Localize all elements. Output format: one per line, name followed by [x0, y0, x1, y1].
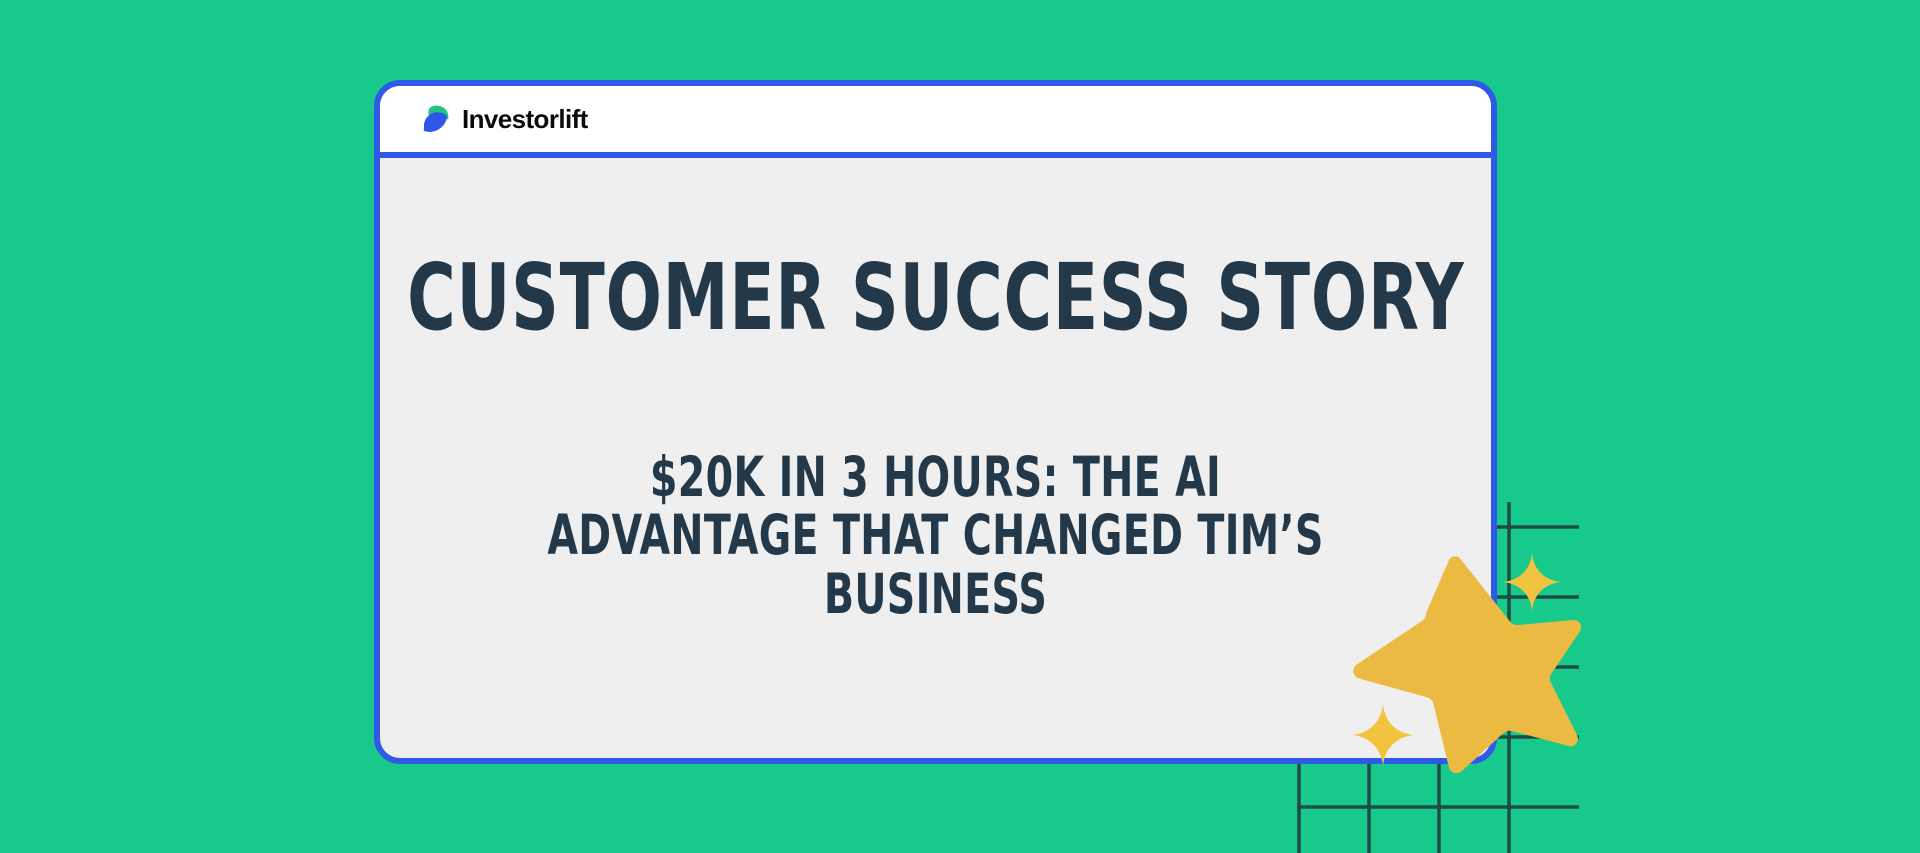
brand-lockup[interactable]: Investorlift: [421, 104, 588, 135]
sparkle-icon: [1503, 553, 1561, 611]
brand-name: Investorlift: [462, 104, 588, 135]
presentation-card: Investorlift CUSTOMER SUCCESS STORY $20K…: [374, 80, 1497, 764]
leaf-icon: [421, 104, 451, 134]
page-subtitle: $20K IN 3 HOURS: THE AI ADVANTAGE THAT C…: [523, 448, 1348, 623]
page-title: CUSTOMER SUCCESS STORY: [407, 252, 1464, 344]
card-body: CUSTOMER SUCCESS STORY $20K IN 3 HOURS: …: [380, 158, 1491, 758]
poster-canvas: Investorlift CUSTOMER SUCCESS STORY $20K…: [0, 0, 1920, 853]
card-header-bar: Investorlift: [380, 86, 1491, 158]
